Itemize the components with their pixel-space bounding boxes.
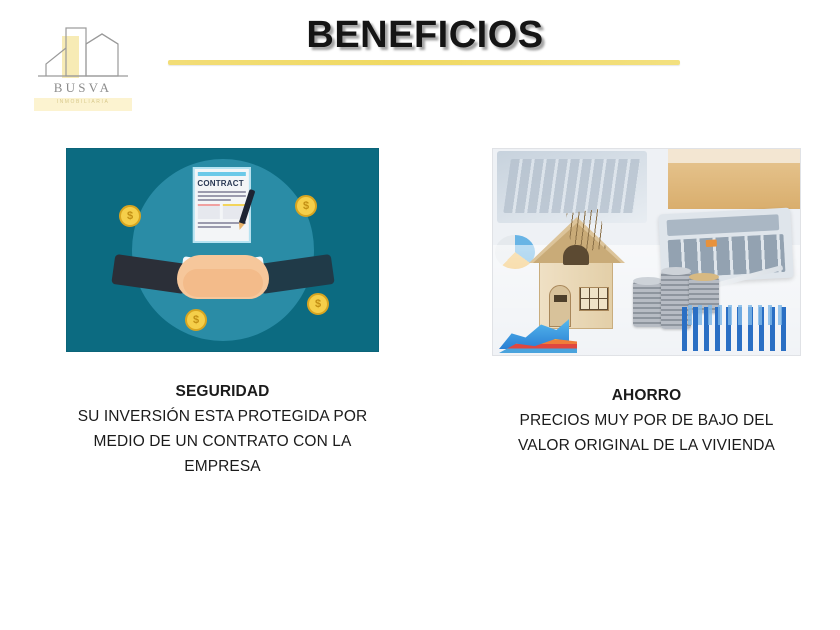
contract-document: CONTRACT (192, 167, 250, 243)
logo-wordmark: BUSVA (24, 80, 142, 96)
seguridad-illustration: CONTRACT $ $ (66, 148, 379, 352)
coin-icon: $ (307, 293, 329, 315)
coin-icon: $ (119, 205, 141, 227)
sleeve-right (257, 254, 334, 294)
benefit-card-ahorro: AHORRO PRECIOS MUY POR DE BAJO DEL VALOR… (492, 148, 801, 458)
contract-field-box (197, 204, 219, 219)
benefit-card-seguridad: CONTRACT $ $ (66, 148, 379, 479)
contract-text-line (197, 226, 231, 228)
title-underline-rule (168, 60, 680, 65)
coin-icon: $ (295, 195, 317, 217)
coin-icon: $ (185, 309, 207, 331)
page-title: BENEFICIOS (168, 14, 682, 57)
contract-title-text: CONTRACT (197, 179, 245, 188)
contract-text-line (197, 199, 231, 201)
contract-text-line (197, 191, 245, 193)
company-logo: BUSVA INMOBILIARIA (24, 22, 142, 114)
calculator-key-accent (706, 239, 717, 247)
house-window-grid (580, 288, 608, 310)
handshake-graphic (113, 245, 333, 311)
house-gable-window (563, 245, 589, 265)
building-outline-icon (24, 22, 142, 84)
bar-chart-graphic-secondary (688, 305, 788, 325)
keyboard-keys (503, 159, 641, 213)
benefit-title: AHORRO (492, 383, 801, 408)
coin-stack-top (689, 273, 719, 281)
benefit-title: SEGURIDAD (66, 379, 379, 404)
house-door-panel (554, 295, 567, 302)
benefit-body: PRECIOS MUY POR DE BAJO DEL VALOR ORIGIN… (492, 408, 801, 458)
contract-field-boxes (197, 204, 245, 219)
hand-lower (183, 269, 263, 297)
coin-stack-top (633, 277, 663, 285)
coin-stack-top (661, 267, 691, 275)
calculator-screen (667, 214, 780, 236)
house-window (579, 287, 609, 311)
coin-stack (633, 281, 663, 327)
house-model (529, 211, 625, 331)
wood-panel-edge (668, 149, 800, 163)
slide-canvas: BUSVA INMOBILIARIA BENEFICIOS CONTRACT (0, 0, 840, 630)
benefit-body: SU INVERSIÓN ESTA PROTEGIDA POR MEDIO DE… (66, 404, 379, 479)
contract-header-bar (197, 172, 245, 176)
ahorro-photo (492, 148, 801, 356)
seguridad-caption: SEGURIDAD SU INVERSIÓN ESTA PROTEGIDA PO… (66, 379, 379, 479)
ahorro-caption: AHORRO PRECIOS MUY POR DE BAJO DEL VALOR… (492, 383, 801, 458)
contract-text-line (197, 195, 245, 197)
logo-subtitle: INMOBILIARIA (24, 99, 142, 105)
